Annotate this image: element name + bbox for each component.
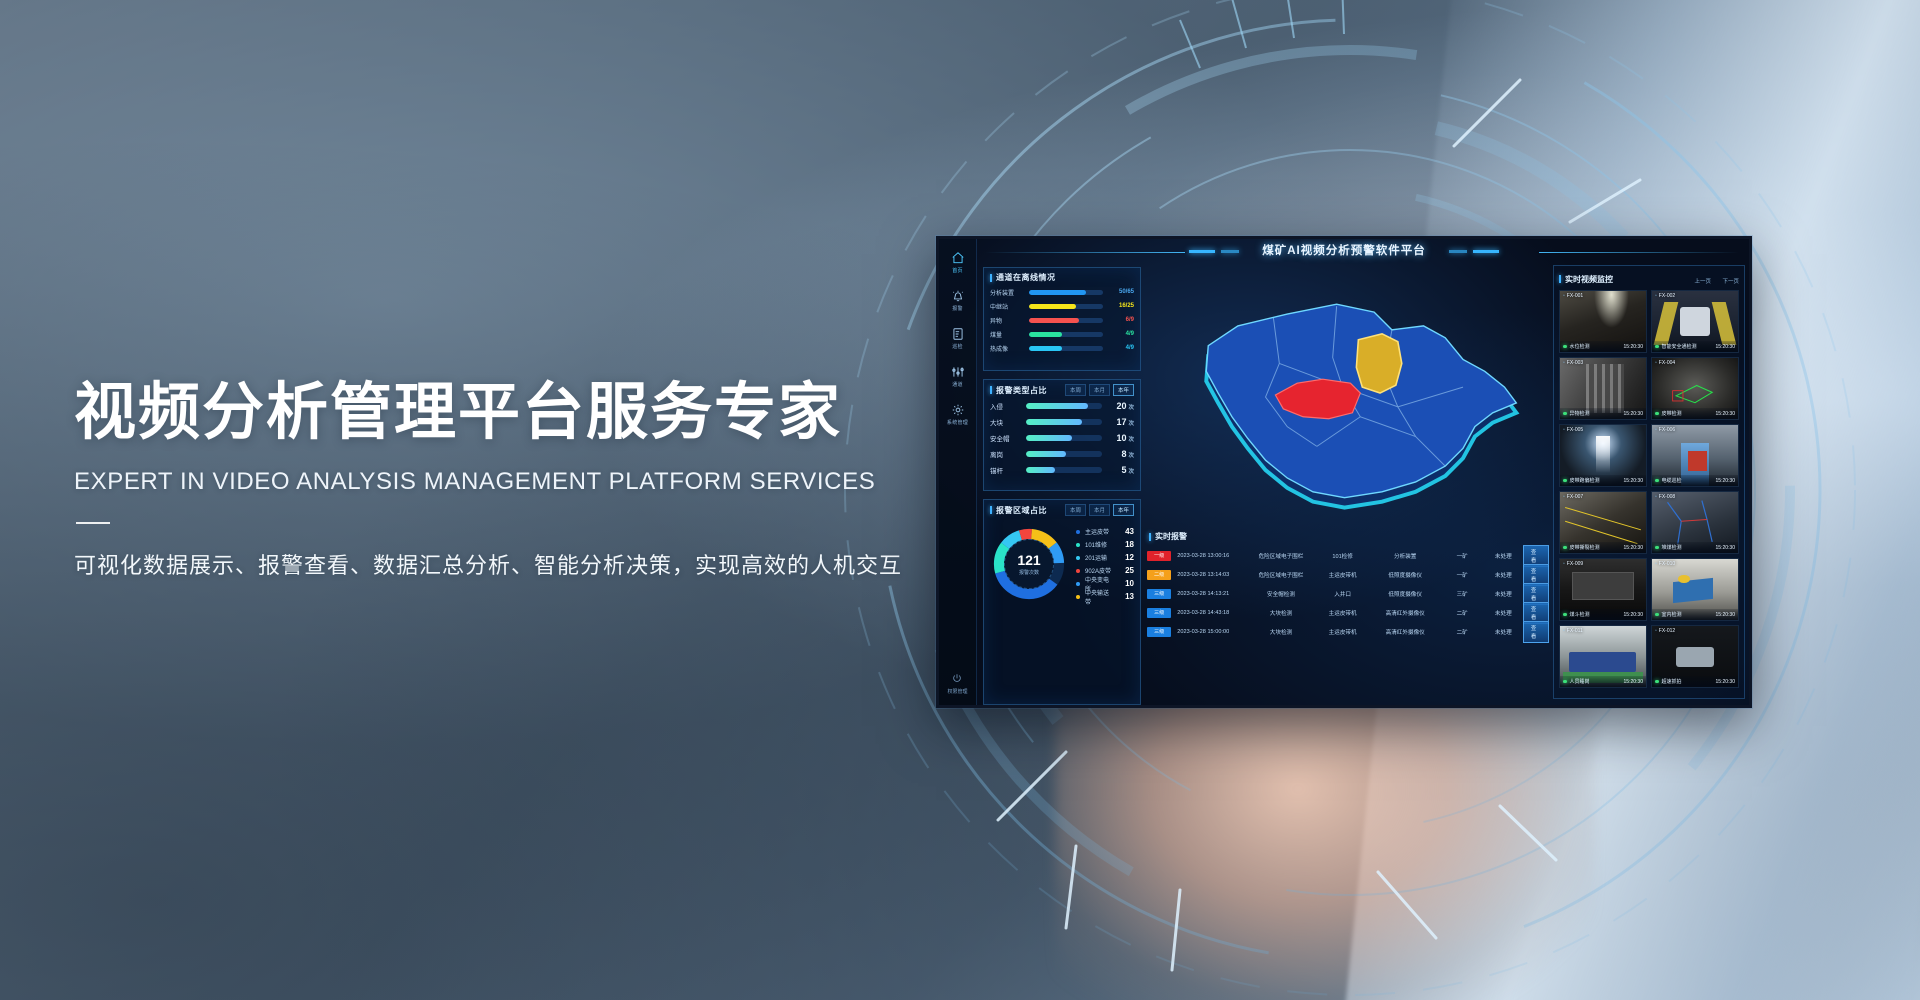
channel-row-label: 中继站	[990, 302, 1024, 311]
page-title: 视频分析管理平台服务专家	[74, 380, 914, 446]
camera-id: FX-001	[1563, 293, 1583, 299]
live-indicator	[1655, 479, 1659, 483]
channel-row-value: 4/9	[1108, 331, 1134, 337]
channel-row-track	[1029, 290, 1103, 295]
camera-time: 15:20:30	[1624, 679, 1643, 685]
tab-month[interactable]: 本月	[1089, 384, 1110, 396]
channel-row: 中继站 16/25	[984, 299, 1140, 313]
camera-name: 电缆巡检	[1662, 477, 1682, 484]
live-indicator	[1563, 613, 1567, 617]
alarm-type: 危险区域电子围栏	[1246, 552, 1315, 560]
alarm-type-label: 入侵	[990, 401, 1020, 411]
alarm-device: 低照度摄像仪	[1370, 571, 1441, 579]
camera-time: 15:20:30	[1716, 478, 1735, 484]
camera-tile[interactable]: ${''} FX-007 皮带撕裂检测15:20:30	[1559, 491, 1647, 554]
channel-row-value: 50/65	[1108, 289, 1134, 295]
camera-time: 15:20:30	[1624, 411, 1643, 417]
alarm-type: 大块检测	[1246, 609, 1315, 617]
camera-id: FX-012	[1655, 628, 1675, 634]
inspection-icon	[951, 327, 965, 341]
alarm-mine: 二矿	[1441, 628, 1484, 636]
live-indicator	[1655, 345, 1659, 349]
channel-row-value: 4/9	[1108, 345, 1134, 351]
hero-divider	[76, 522, 110, 524]
channel-bar-list: 分析装置 50/65 中继站 16/25 异物 6/9 煤量 4	[984, 285, 1140, 355]
table-row[interactable]: 三级 2023-03-28 15:00:00 大块检测 主运皮带机 高清红外摄像…	[1147, 622, 1549, 641]
channel-row-value: 16/25	[1108, 303, 1134, 309]
alarm-status: 未处理	[1484, 590, 1523, 598]
tab-year[interactable]: 本年	[1113, 504, 1134, 516]
live-indicator	[1563, 345, 1567, 349]
alarm-type-panel: 报警类型占比 本周 本月 本年 入侵 20次 大块 17次	[983, 379, 1141, 491]
sidebar-item-permissions[interactable]: 权限管理	[947, 670, 967, 695]
legend-item: 主运皮带43	[1076, 525, 1134, 538]
view-button[interactable]: 查看	[1523, 621, 1549, 643]
sidebar-item-alarm[interactable]: 报警	[939, 289, 976, 312]
camera-id: FX-011	[1563, 628, 1583, 634]
next-page-button[interactable]: 下一页	[1722, 279, 1739, 285]
sidebar-label-channel: 通道	[939, 381, 976, 388]
donut-center-label: 报警次数	[1019, 569, 1039, 576]
sidebar-item-inspection[interactable]: 巡检	[939, 327, 976, 350]
live-indicator	[1563, 479, 1567, 483]
alarm-type-track	[1026, 435, 1102, 441]
alarm-type-value: 17次	[1108, 417, 1134, 427]
camera-name: 人员睡岗	[1570, 678, 1590, 685]
camera-name: 智能安全通检测	[1662, 343, 1697, 350]
live-indicator	[1655, 546, 1659, 550]
camera-id: FX-006	[1655, 427, 1675, 433]
sidebar-label-alarm: 报警	[939, 305, 976, 312]
alarm-status: 未处理	[1484, 571, 1523, 579]
alarm-type-value: 10次	[1108, 433, 1134, 443]
camera-name: 煤斗检测	[1570, 611, 1590, 618]
dashboard-sidebar: 首页 报警 巡检 通道 系统管理 权限管理	[939, 239, 977, 705]
alarm-mine: 一矿	[1441, 552, 1484, 560]
alarm-type-value: 8次	[1108, 449, 1134, 459]
channel-panel-title: 通道在离线情况	[990, 272, 1056, 283]
table-row[interactable]: 一级 2023-03-28 13:00:16 危险区域电子围栏 101检修 分析…	[1147, 546, 1549, 565]
table-row[interactable]: 三级 2023-03-28 14:13:21 安全帽检测 入井口 低照度摄像仪 …	[1147, 584, 1549, 603]
camera-name: 皮带撕裂检测	[1570, 544, 1600, 551]
camera-tile[interactable]: FX-011 人员睡岗15:20:30	[1559, 625, 1647, 688]
camera-id: FX-003	[1563, 360, 1583, 366]
alarm-level-badge: 三级	[1147, 627, 1171, 637]
alarm-type-row: 安全帽 10次	[984, 430, 1140, 446]
alarm-status: 未处理	[1484, 609, 1523, 617]
alarm-mine: 一矿	[1441, 571, 1484, 579]
sidebar-label-system: 系统管理	[939, 419, 976, 426]
hero-subtitle-en: EXPERT IN VIDEO ANALYSIS MANAGEMENT PLAT…	[74, 468, 914, 496]
channel-row-value: 6/9	[1108, 317, 1134, 323]
alarm-area-tabs: 本周 本月 本年	[1065, 504, 1134, 516]
alarm-status: 未处理	[1484, 628, 1523, 636]
alarm-type-row: 离岗 8次	[984, 446, 1140, 462]
alarm-area: 主运皮带机	[1316, 628, 1370, 636]
alarm-type-value: 5次	[1108, 465, 1134, 475]
camera-name: 异物检测	[1570, 410, 1590, 417]
camera-tile[interactable]: FX-012 超速抓拍15:20:30	[1651, 625, 1739, 688]
channel-row-track	[1029, 332, 1103, 337]
camera-time: 15:20:30	[1716, 545, 1735, 551]
sidebar-item-system[interactable]: 系统管理	[939, 403, 976, 426]
video-monitor-panel: 实时视频监控 上一页 下一页 FX-001 水位检测15:20:30	[1553, 265, 1745, 699]
legend-item: 中央输送带13	[1076, 590, 1134, 603]
alarm-type-track	[1026, 403, 1102, 409]
alarm-type-track	[1026, 419, 1102, 425]
camera-tile[interactable]: FX-001 水位检测15:20:30	[1559, 290, 1647, 353]
alarm-area-donut-chart: 121 报警次数	[990, 525, 1068, 603]
channel-row-label: 分析装置	[990, 288, 1024, 297]
alarm-level-badge: 三级	[1147, 589, 1171, 599]
camera-name: 皮带跑偏检测	[1570, 477, 1600, 484]
camera-time: 15:20:30	[1716, 679, 1735, 685]
camera-grid: FX-001 水位检测15:20:30 FX-002 智能安全通检测15:20:…	[1554, 290, 1744, 692]
hero-copy: 视频分析管理平台服务专家 EXPERT IN VIDEO ANALYSIS MA…	[74, 380, 914, 580]
live-indicator	[1655, 680, 1659, 684]
alarm-type-label: 安全帽	[990, 433, 1020, 443]
channel-row: 分析装置 50/65	[984, 285, 1140, 299]
alarm-area-legend: 主运皮带43 101维修18 201运输12 902A皮带25 中央变电所10 …	[1068, 525, 1134, 603]
camera-tile[interactable]: FX-003 异物检测15:20:30	[1559, 357, 1647, 420]
camera-id: FX-002	[1655, 293, 1675, 299]
home-icon	[951, 251, 965, 265]
channel-row-label: 异物	[990, 316, 1024, 325]
camera-id: FX-004	[1655, 360, 1675, 366]
alarm-area: 主运皮带机	[1316, 609, 1370, 617]
live-indicator	[1655, 613, 1659, 617]
alarm-type-panel-title: 报警类型占比	[990, 385, 1047, 396]
camera-name: 室内检测	[1662, 611, 1682, 618]
camera-tile[interactable]: FX-008 堆煤检测15:20:30	[1651, 491, 1739, 554]
alarm-time: 2023-03-28 13:14:03	[1177, 572, 1246, 578]
camera-name: 超速抓拍	[1662, 678, 1682, 685]
table-row[interactable]: 二级 2023-03-28 13:14:03 危险区域电子围栏 主运皮带机 低照…	[1147, 565, 1549, 584]
alarm-area: 101检修	[1316, 552, 1370, 560]
alarm-device: 低照度摄像仪	[1370, 590, 1441, 598]
sidebar-label-home: 首页	[939, 267, 976, 274]
alarm-area-panel: 报警区域占比 本周 本月 本年	[983, 499, 1141, 705]
donut-center: 121 报警次数	[1004, 539, 1054, 589]
channel-row: 异物 6/9	[984, 313, 1140, 327]
sidebar-item-channel[interactable]: 通道	[939, 365, 976, 388]
channel-row-track	[1029, 304, 1103, 309]
alarm-device: 高清红外摄像仪	[1370, 609, 1441, 617]
channel-status-panel: 通道在离线情况 分析装置 50/65 中继站 16/25 异物 6/9	[983, 267, 1141, 371]
camera-tile[interactable]: FX-010 室内检测15:20:30	[1651, 558, 1739, 621]
tab-month[interactable]: 本月	[1089, 504, 1110, 516]
dashboard-screen: 煤矿AI视频分析预警软件平台 首页 报警 巡检 通道	[939, 239, 1749, 705]
channel-row: 热成像 4/9	[984, 341, 1140, 355]
channel-row-label: 热成像	[990, 344, 1024, 353]
camera-name: 皮带检测	[1662, 410, 1682, 417]
camera-tile[interactable]: FX-004 皮带检测15:20:30	[1651, 357, 1739, 420]
alarm-icon	[951, 289, 965, 303]
legend-item: 101维修18	[1076, 538, 1134, 551]
sidebar-item-home[interactable]: 首页	[939, 251, 976, 274]
camera-name: 堆煤检测	[1662, 544, 1682, 551]
alarm-type: 大块检测	[1246, 628, 1315, 636]
alarm-type-track	[1026, 451, 1102, 457]
prev-page-button[interactable]: 上一页	[1695, 279, 1712, 285]
camera-name: 水位检测	[1570, 343, 1590, 350]
alarm-type: 安全帽检测	[1246, 590, 1315, 598]
live-indicator	[1563, 412, 1567, 416]
dashboard-header: 煤矿AI视频分析预警软件平台	[939, 239, 1749, 263]
alarm-area-panel-title: 报警区域占比	[990, 505, 1047, 516]
camera-id: FX-005	[1563, 427, 1583, 433]
switch-icon	[952, 673, 962, 683]
alarm-time: 2023-03-28 14:13:21	[1177, 591, 1246, 597]
camera-time: 15:20:30	[1624, 478, 1643, 484]
gear-icon	[951, 403, 965, 417]
alarm-type-label: 离岗	[990, 449, 1020, 459]
alarm-device: 分析装置	[1370, 552, 1441, 560]
live-indicator	[1563, 680, 1567, 684]
camera-tile[interactable]: FX-006 电缆巡检15:20:30	[1651, 424, 1739, 487]
alarm-level-badge: 二级	[1147, 570, 1171, 580]
alarm-time: 2023-03-28 15:00:00	[1177, 629, 1246, 635]
alarm-type-row: 入侵 20次	[984, 398, 1140, 414]
camera-time: 15:20:30	[1624, 344, 1643, 350]
camera-id: FX-010	[1655, 561, 1675, 567]
legend-item: 201运输12	[1076, 551, 1134, 564]
camera-time: 15:20:30	[1624, 612, 1643, 618]
alarm-type: 危险区域电子围栏	[1246, 571, 1315, 579]
camera-time: 15:20:30	[1624, 545, 1643, 551]
alarm-type-label: 大块	[990, 417, 1020, 427]
dashboard-monitor: 煤矿AI视频分析预警软件平台 首页 报警 巡检 通道	[936, 236, 1752, 708]
alarm-type-tabs: 本周 本月 本年	[1065, 384, 1134, 396]
alarm-status: 未处理	[1484, 552, 1523, 560]
alarm-level-badge: 一级	[1147, 551, 1171, 561]
donut-center-value: 121	[1017, 552, 1040, 568]
tab-week[interactable]: 本周	[1065, 504, 1086, 516]
alarm-type-value: 20次	[1108, 401, 1134, 411]
camera-time: 15:20:30	[1716, 411, 1735, 417]
alarm-type-track	[1026, 467, 1102, 473]
camera-id: FX-009	[1563, 561, 1583, 567]
alarm-area: 主运皮带机	[1316, 571, 1370, 579]
channel-row: 煤量 4/9	[984, 327, 1140, 341]
realtime-alarm-table: 实时报警 一级 2023-03-28 13:00:16 危险区域电子围栏 101…	[1147, 531, 1549, 699]
camera-tile[interactable]: FX-005 皮带跑偏检测15:20:30	[1559, 424, 1647, 487]
alarm-area: 入井口	[1316, 590, 1370, 598]
alarm-type-list: 入侵 20次 大块 17次 安全帽 10次 离岗 8次	[984, 398, 1140, 478]
channel-row-track	[1029, 318, 1103, 323]
tab-year[interactable]: 本年	[1113, 384, 1134, 396]
sidebar-label-permissions: 权限管理	[947, 688, 967, 695]
alarm-mine: 二矿	[1441, 609, 1484, 617]
camera-tile[interactable]: FX-002 智能安全通检测15:20:30	[1651, 290, 1739, 353]
camera-id: FX-007	[1563, 494, 1583, 500]
alarm-type-row: 大块 17次	[984, 414, 1140, 430]
camera-tile[interactable]: FX-009 煤斗检测15:20:30	[1559, 558, 1647, 621]
channel-row-label: 煤量	[990, 330, 1024, 339]
camera-id: FX-008	[1655, 494, 1675, 500]
alarm-time: 2023-03-28 14:43:18	[1177, 610, 1246, 616]
video-panel-title: 实时视频监控	[1559, 274, 1613, 285]
alarm-type-row: 锚杆 5次	[984, 462, 1140, 478]
video-pagination: 上一页 下一页	[1688, 270, 1739, 288]
live-indicator	[1563, 546, 1567, 550]
channel-row-track	[1029, 346, 1103, 351]
hero-description: 可视化数据展示、报警查看、数据汇总分析、智能分析决策，实现高效的人机交互	[74, 548, 914, 580]
camera-time: 15:20:30	[1716, 344, 1735, 350]
camera-time: 15:20:30	[1716, 612, 1735, 618]
tab-week[interactable]: 本周	[1065, 384, 1086, 396]
person-hand	[1055, 690, 1595, 1000]
dashboard-title: 煤矿AI视频分析预警软件平台	[1262, 242, 1426, 258]
channel-icon	[951, 365, 965, 379]
sidebar-label-inspection: 巡检	[939, 343, 976, 350]
alarm-type-label: 锚杆	[990, 465, 1020, 475]
realtime-alarm-title: 实时报警	[1149, 531, 1549, 542]
alarm-device: 高清红外摄像仪	[1370, 628, 1441, 636]
live-indicator	[1655, 412, 1659, 416]
alarm-level-badge: 三级	[1147, 608, 1171, 618]
region-map[interactable]	[1149, 267, 1544, 527]
alarm-mine: 三矿	[1441, 590, 1484, 598]
table-row[interactable]: 三级 2023-03-28 14:43:18 大块检测 主运皮带机 高清红外摄像…	[1147, 603, 1549, 622]
alarm-time: 2023-03-28 13:00:16	[1177, 553, 1246, 559]
